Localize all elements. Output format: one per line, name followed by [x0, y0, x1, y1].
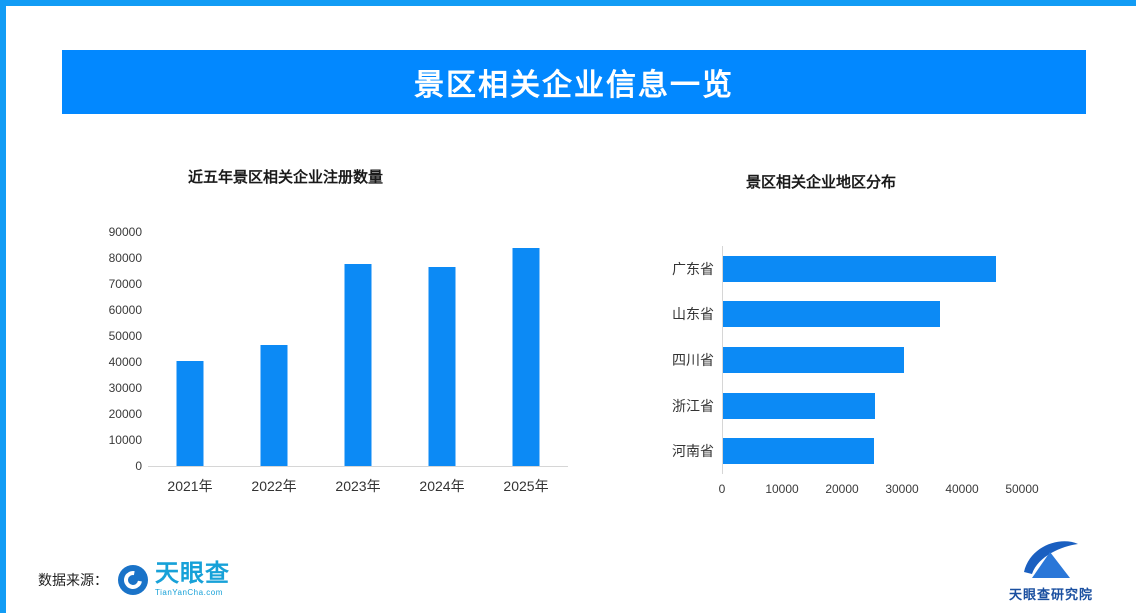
- x-tick-label: 10000: [765, 482, 798, 496]
- bar-plot-area: [722, 246, 1023, 474]
- category-label: 浙江省: [646, 396, 714, 416]
- x-category-label: 2025年: [503, 476, 548, 496]
- y-tick-label: 30000: [109, 381, 142, 395]
- x-axis-tick-labels: 01000020000300004000050000: [722, 482, 1022, 502]
- tianyancha-brand-cn: 天眼查: [155, 562, 230, 586]
- left-chart-title: 近五年景区相关企业注册数量: [188, 166, 383, 187]
- y-tick-label: 80000: [109, 251, 142, 265]
- bar: [723, 256, 996, 282]
- x-tick-label: 30000: [885, 482, 918, 496]
- y-tick-label: 60000: [109, 303, 142, 317]
- y-tick-label: 20000: [109, 407, 142, 421]
- tianyancha-brand-en: TianYanCha.com: [155, 589, 230, 597]
- y-tick-label: 90000: [109, 225, 142, 239]
- tianyancha-eye-icon: [118, 565, 148, 595]
- bar-plot-area: [148, 232, 568, 467]
- page-title: 景区相关企业信息一览: [414, 60, 734, 104]
- bar: [723, 438, 874, 464]
- right-chart-title: 景区相关企业地区分布: [746, 171, 896, 192]
- bar: [513, 248, 540, 466]
- x-category-label: 2023年: [335, 476, 380, 496]
- infographic-page: 景区相关企业信息一览 近五年景区相关企业注册数量 景区相关企业地区分布 0100…: [0, 0, 1136, 613]
- y-tick-label: 70000: [109, 277, 142, 291]
- region-bar-chart: 广东省山东省四川省浙江省河南省 010000200003000040000500…: [646, 246, 1046, 516]
- data-source: 数据来源： 天眼查 TianYanCha.com: [38, 562, 230, 597]
- category-label: 山东省: [646, 304, 714, 324]
- category-label: 河南省: [646, 441, 714, 461]
- header-banner: 景区相关企业信息一览: [62, 50, 1086, 114]
- bar: [261, 345, 288, 466]
- bar: [429, 267, 456, 466]
- x-tick-label: 20000: [825, 482, 858, 496]
- registrations-bar-chart: 0100002000030000400005000060000700008000…: [86, 226, 586, 516]
- x-category-label: 2021年: [167, 476, 212, 496]
- bar: [177, 361, 204, 466]
- data-source-label: 数据来源：: [38, 570, 108, 590]
- bar: [723, 347, 904, 373]
- tianyancha-logo: 天眼查 TianYanCha.com: [118, 562, 230, 597]
- institute-logo: 天眼查研究院: [996, 538, 1106, 603]
- x-tick-label: 50000: [1005, 482, 1038, 496]
- y-tick-label: 50000: [109, 329, 142, 343]
- x-tick-label: 0: [719, 482, 726, 496]
- institute-name: 天眼查研究院: [996, 584, 1106, 603]
- y-tick-label: 10000: [109, 433, 142, 447]
- y-tick-label: 40000: [109, 355, 142, 369]
- bar: [345, 264, 372, 466]
- bar: [723, 301, 940, 327]
- y-axis-tick-labels: 0100002000030000400005000060000700008000…: [86, 226, 142, 466]
- category-label: 广东省: [646, 259, 714, 279]
- y-tick-label: 0: [135, 459, 142, 473]
- x-category-label: 2024年: [419, 476, 464, 496]
- x-tick-label: 40000: [945, 482, 978, 496]
- bar: [723, 393, 875, 419]
- x-category-label: 2022年: [251, 476, 296, 496]
- category-label: 四川省: [646, 350, 714, 370]
- institute-arc-icon: [1020, 538, 1082, 580]
- x-axis-category-labels: 2021年2022年2023年2024年2025年: [148, 476, 568, 500]
